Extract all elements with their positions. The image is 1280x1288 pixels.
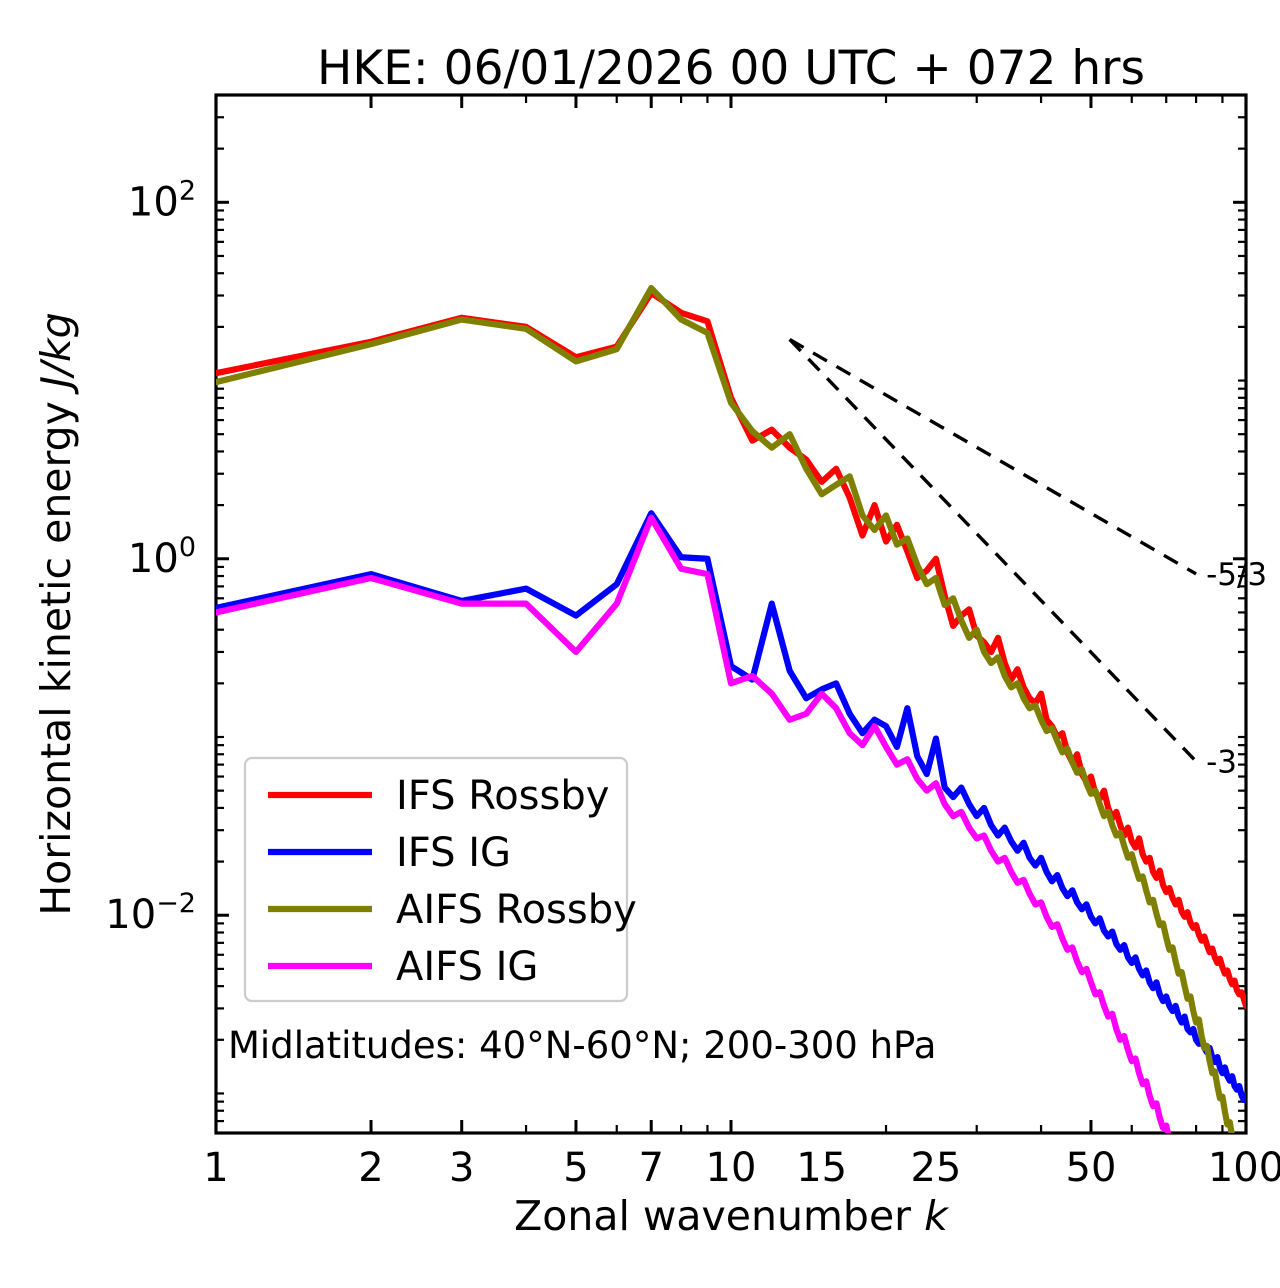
y-axis-tick-labels: 10210010−2 [105, 175, 196, 938]
x-axis-label-main: Zonal wavenumber [514, 1192, 924, 1240]
y-axis-label: Horizontal kinetic energy J/kg [32, 312, 80, 915]
x-axis-tick-labels: 1235710152550100 [203, 1145, 1280, 1191]
hke-spectrum-chart: HKE: 06/01/2026 00 UTC + 072 hrs 1021001… [0, 0, 1280, 1288]
x-tick-label: 15 [796, 1145, 847, 1191]
x-axis-label-symbol: k [924, 1192, 950, 1240]
slope-label: -5/3 [1206, 557, 1267, 593]
x-tick-label: 5 [563, 1145, 588, 1191]
chart-legend: IFS RossbyIFS IGAIFS RossbyAIFS IG [245, 758, 637, 1001]
x-axis-label: Zonal wavenumber k [514, 1192, 950, 1240]
x-tick-label: 100 [1208, 1145, 1280, 1191]
x-tick-label: 25 [910, 1145, 961, 1191]
x-tick-label: 1 [203, 1145, 228, 1191]
x-tick-label: 2 [358, 1145, 383, 1191]
region-annotation: Midlatitudes: 40°N-60°N; 200-300 hPa [228, 1024, 936, 1067]
legend-label[interactable]: IFS IG [396, 830, 511, 876]
reference-slope-lines [790, 339, 1196, 761]
x-tick-label: 10 [706, 1145, 757, 1191]
y-axis-label-unit: J/kg [32, 312, 80, 395]
x-tick-label: 50 [1066, 1145, 1117, 1191]
y-tick-label: 100 [128, 532, 196, 582]
chart-title: HKE: 06/01/2026 00 UTC + 072 hrs [317, 41, 1145, 96]
legend-label[interactable]: IFS Rossby [396, 773, 609, 819]
legend-label[interactable]: AIFS IG [396, 944, 538, 990]
x-tick-label: 3 [449, 1145, 474, 1191]
x-tick-label: 7 [638, 1145, 663, 1191]
y-axis-label-main: Horizontal kinetic energy [32, 388, 80, 916]
reference-slope-labels: -5/3-3 [1206, 557, 1267, 781]
y-tick-label: 10−2 [105, 888, 196, 938]
slope-label: -3 [1206, 744, 1237, 780]
figure-container: HKE: 06/01/2026 00 UTC + 072 hrs 1021001… [0, 0, 1280, 1288]
y-tick-label: 102 [128, 175, 196, 225]
legend-label[interactable]: AIFS Rossby [396, 887, 637, 933]
